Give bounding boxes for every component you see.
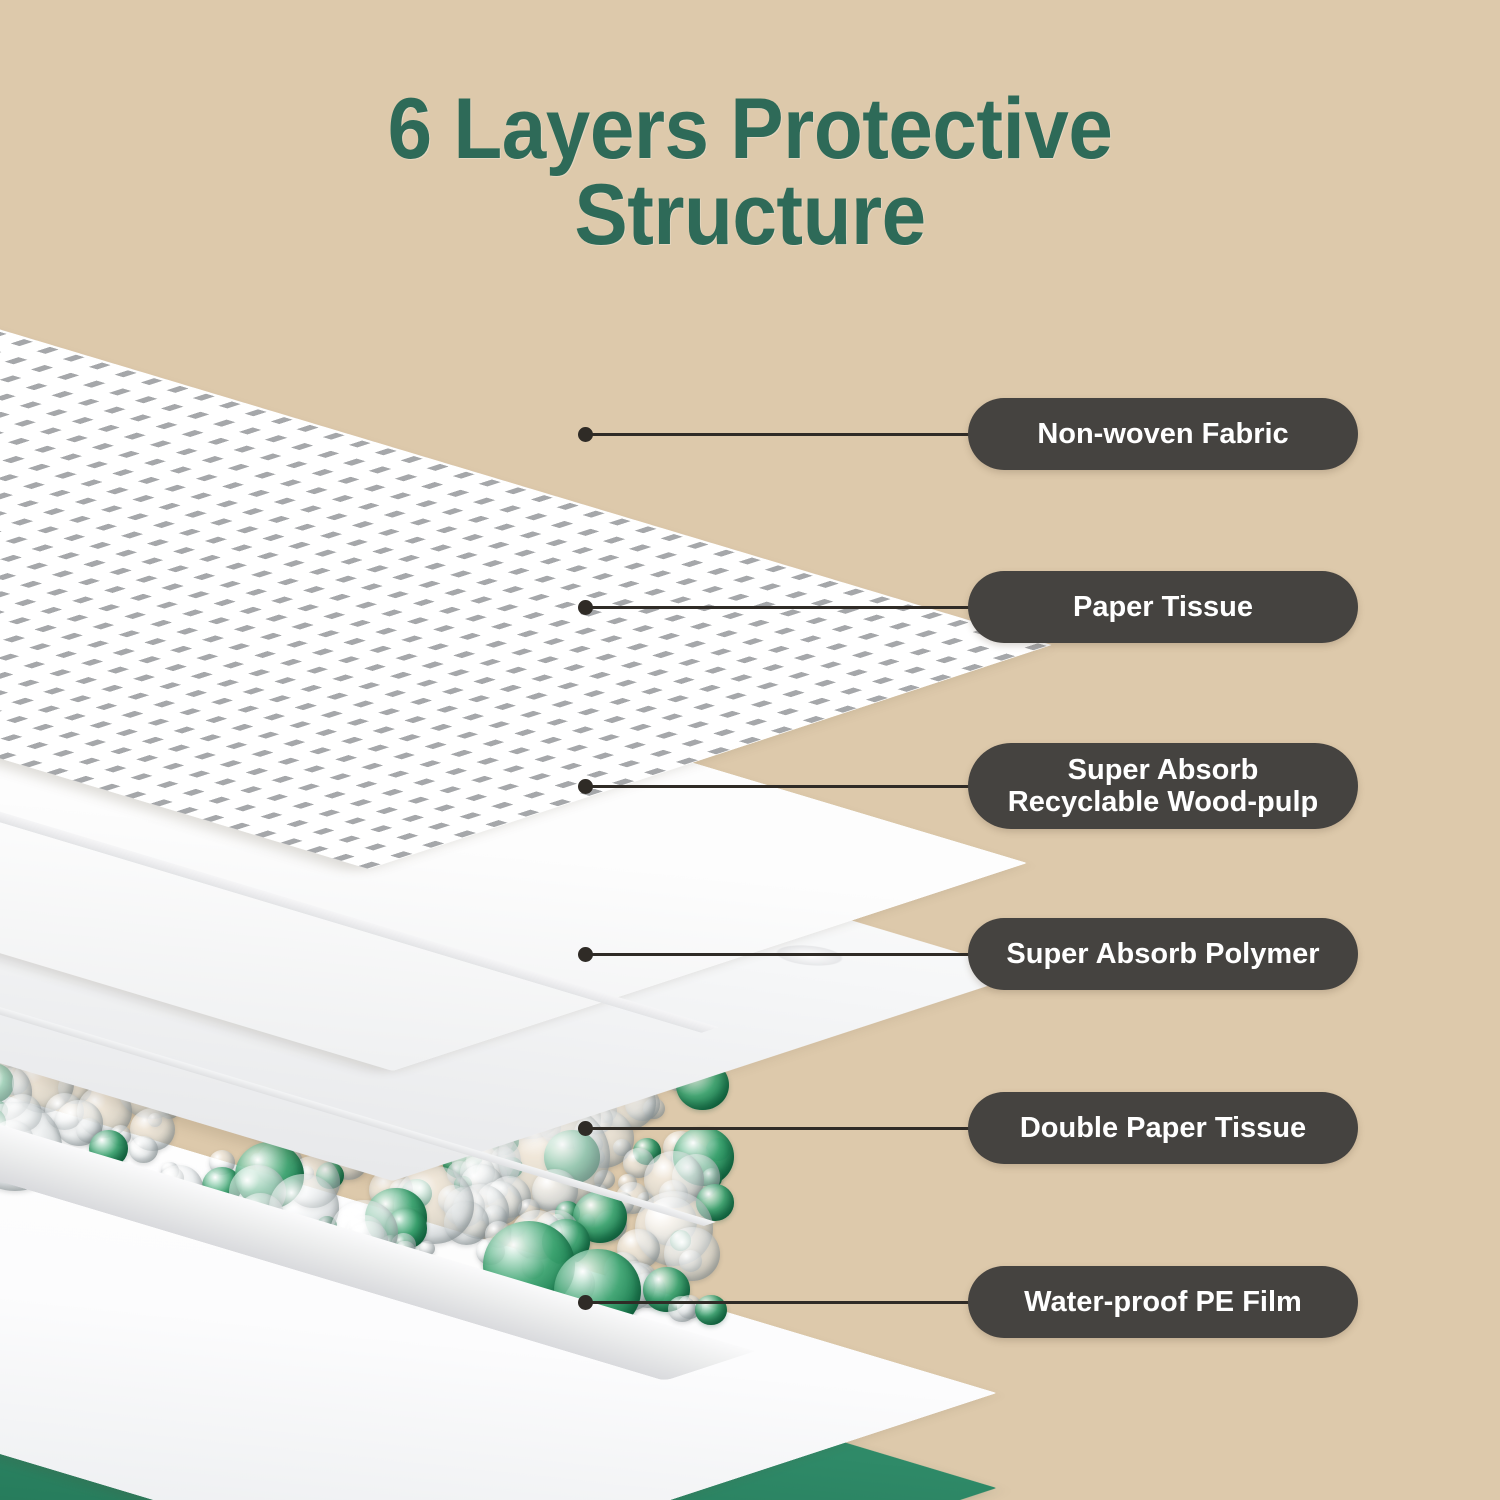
- leader-line-water-proof-pe-film: [585, 1301, 985, 1304]
- polymer-bead-green: [695, 1295, 727, 1325]
- layer-label-super-absorb-recyclable-wood-pulp[interactable]: Super Absorb Recyclable Wood-pulp: [968, 743, 1358, 829]
- layer-label-double-paper-tissue[interactable]: Double Paper Tissue: [968, 1092, 1358, 1164]
- layer-stack-illustration: [0, 0, 1000, 1500]
- layer-label-paper-tissue[interactable]: Paper Tissue: [968, 571, 1358, 643]
- layer-label-non-woven-fabric[interactable]: Non-woven Fabric: [968, 398, 1358, 470]
- layer-label-water-proof-pe-film[interactable]: Water-proof PE Film: [968, 1266, 1358, 1338]
- leader-line-non-woven-fabric: [585, 433, 985, 436]
- leader-line-paper-tissue: [585, 606, 985, 609]
- leader-line-double-paper-tissue: [585, 1127, 985, 1130]
- layer-label-super-absorb-polymer[interactable]: Super Absorb Polymer: [968, 918, 1358, 990]
- leader-line-super-absorb-recyclable-wood-pulp: [585, 785, 985, 788]
- non-woven-fabric-top-face: [0, 291, 1052, 869]
- polymer-bead-clear: [668, 1296, 695, 1322]
- infographic-canvas: 6 Layers Protective Structure: [0, 0, 1500, 1500]
- leader-line-super-absorb-polymer: [585, 953, 985, 956]
- layer-graphic-non-woven-fabric: [0, 300, 710, 860]
